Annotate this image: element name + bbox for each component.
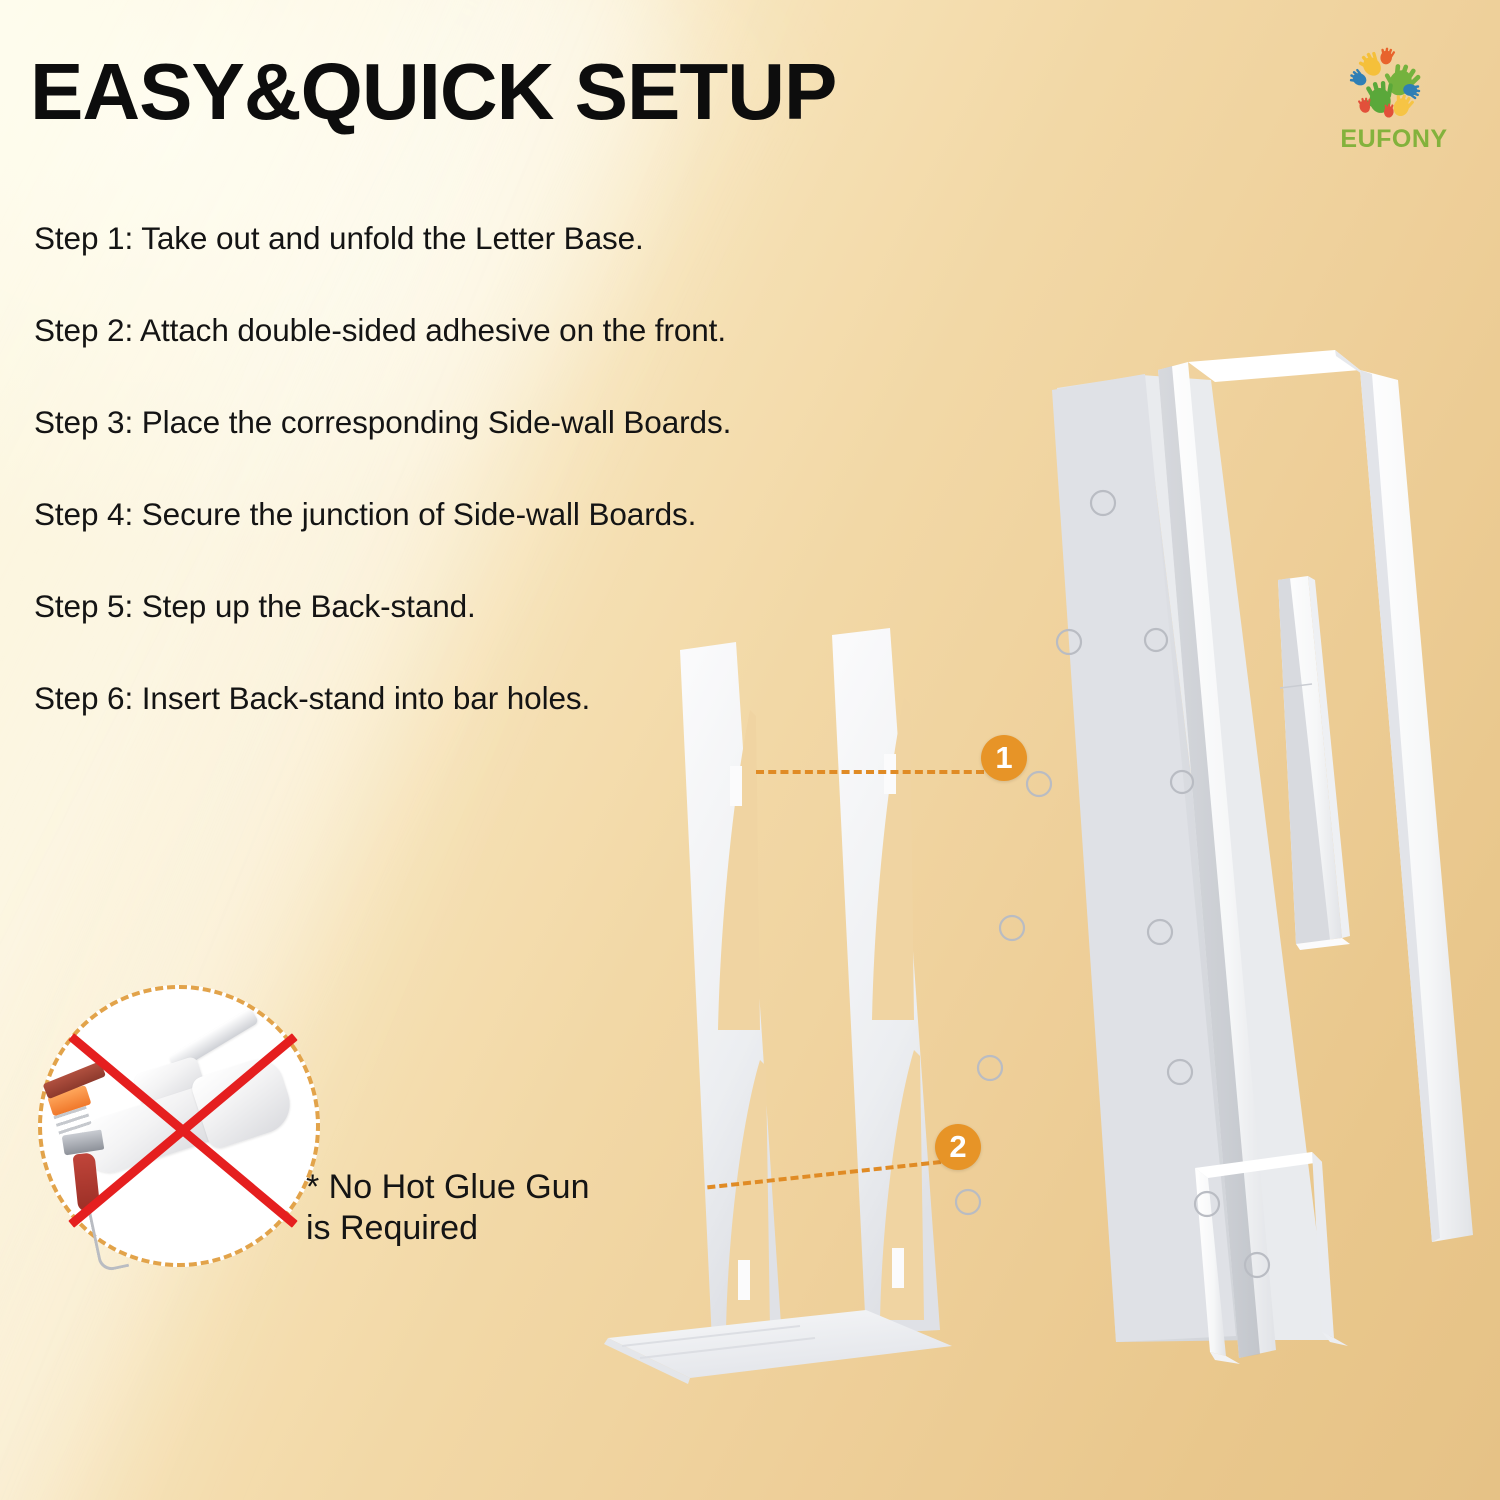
glue-gun-wire-stand: [88, 1205, 129, 1273]
callout-leader-1: [756, 770, 984, 774]
brand-logo: EUFONY: [1326, 46, 1462, 162]
letter-a-apex: [1188, 350, 1362, 382]
instruction-page: EASY&QUICK SETUP: [0, 0, 1500, 1500]
callout-badge-2[interactable]: 2: [935, 1124, 981, 1170]
step-item-1: Step 1: Take out and unfold the Letter B…: [34, 218, 794, 258]
no-glue-gun-label: * No Hot Glue Gun is Required: [306, 1167, 606, 1250]
handprints-circle-icon: [1344, 46, 1444, 124]
side-wall-board-left: [680, 642, 782, 1342]
letter-a-assembly-svg: [560, 330, 1500, 1390]
product-artwork: [560, 330, 1500, 1390]
letter-a-right-leg: [1360, 370, 1473, 1242]
handprints-svg: [1344, 46, 1444, 124]
side-wall-board-right: [832, 628, 940, 1334]
callout-badge-1[interactable]: 1: [981, 735, 1027, 781]
hot-glue-gun-prohibited-icon: [38, 985, 320, 1267]
no-glue-gun-notice: * No Hot Glue Gun is Required: [38, 985, 598, 1285]
brand-name: EUFONY: [1326, 125, 1462, 154]
page-title: EASY&QUICK SETUP: [30, 46, 836, 138]
